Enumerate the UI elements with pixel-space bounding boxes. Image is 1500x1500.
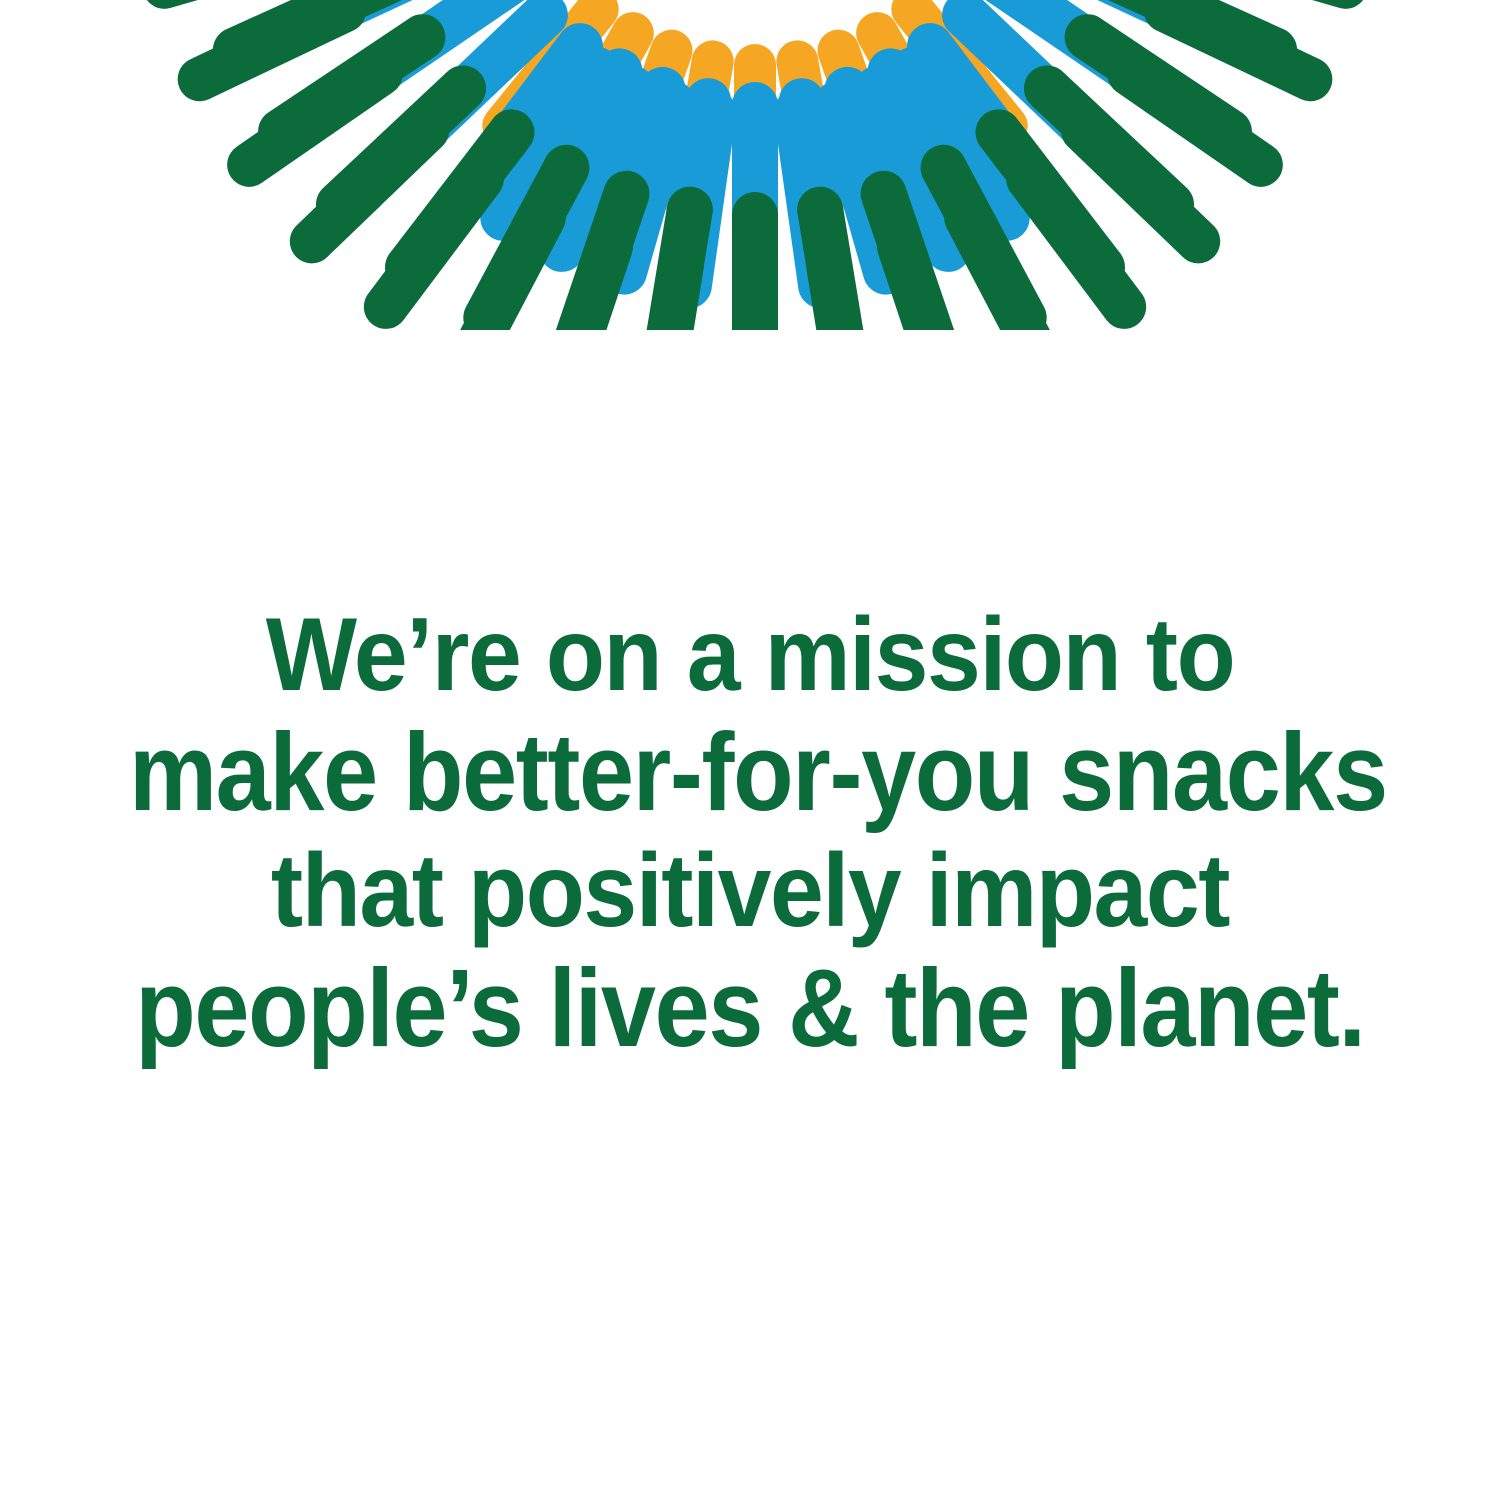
headline-line-1: We’re on a mission to	[108, 596, 1391, 714]
page-root: We’re on a mission to make better-for-yo…	[0, 0, 1500, 1500]
mission-headline: We’re on a mission to make better-for-yo…	[0, 596, 1500, 1068]
sunburst-dash-group	[145, 0, 1366, 330]
sunburst-dash-green	[1166, 10, 1310, 79]
sunburst-dash-green	[828, 264, 854, 330]
headline-line-4: people’s lives & the planet.	[129, 950, 1371, 1068]
sunburst-dash-green	[200, 10, 344, 79]
headline-line-3: that positively impact	[108, 832, 1391, 950]
radial-sunburst-graphic	[0, 0, 1500, 330]
sunburst-dash-green	[656, 264, 682, 330]
headline-line-2: make better-for-you snacks	[129, 714, 1371, 832]
radial-sunburst-svg	[0, 0, 1500, 330]
